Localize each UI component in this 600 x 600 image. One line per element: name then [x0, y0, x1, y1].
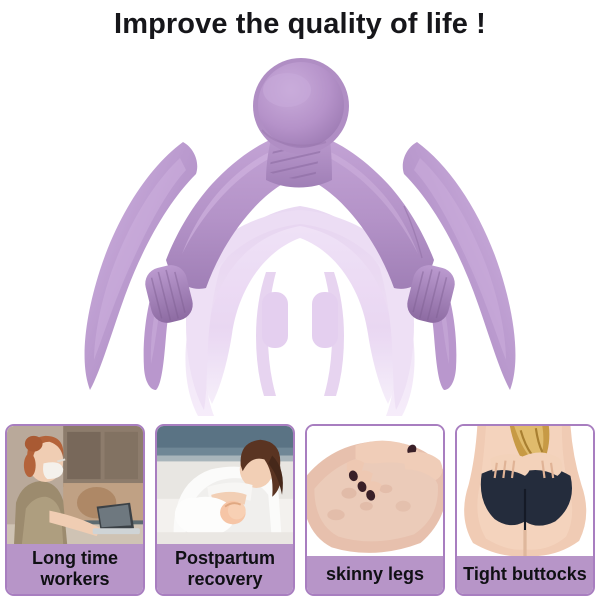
photo-postpartum-recovery	[157, 426, 293, 544]
benefit-caption-skinny-legs: skinny legs	[307, 556, 443, 594]
benefit-caption-text: Postpartum recovery	[175, 548, 275, 588]
page-title-bar: Improve the quality of life !	[0, 4, 600, 44]
benefit-caption-postpartum-recovery: Postpartum recovery	[157, 544, 293, 594]
photo-skinny-legs	[307, 426, 443, 556]
benefit-panel-skinny-legs[interactable]: skinny legs	[305, 424, 445, 596]
pelvic-floor-hip-trainer-illustration	[0, 38, 600, 423]
benefit-panel-long-time-workers[interactable]: Long time workers	[5, 424, 145, 596]
product-stage	[0, 38, 600, 423]
photo-tight-buttocks	[457, 426, 593, 556]
benefit-caption-text: Long time workers	[32, 548, 118, 588]
top-round-pad	[253, 58, 349, 154]
ghost-left-knob	[262, 292, 288, 348]
benefit-panel-row: Long time workers	[0, 424, 600, 596]
benefit-caption-text: Tight buttocks	[463, 564, 587, 584]
benefit-panel-postpartum-recovery[interactable]: Postpartum recovery	[155, 424, 295, 596]
ghost-right-knob	[312, 292, 338, 348]
benefit-caption-tight-buttocks: Tight buttocks	[457, 556, 593, 594]
benefit-panel-tight-buttocks[interactable]: Tight buttocks	[455, 424, 595, 596]
product-hero	[0, 38, 600, 423]
benefit-caption-long-time-workers: Long time workers	[7, 544, 143, 594]
page-title: Improve the quality of life !	[114, 8, 486, 41]
benefit-caption-text: skinny legs	[326, 564, 424, 584]
photo-long-time-workers	[7, 426, 143, 544]
